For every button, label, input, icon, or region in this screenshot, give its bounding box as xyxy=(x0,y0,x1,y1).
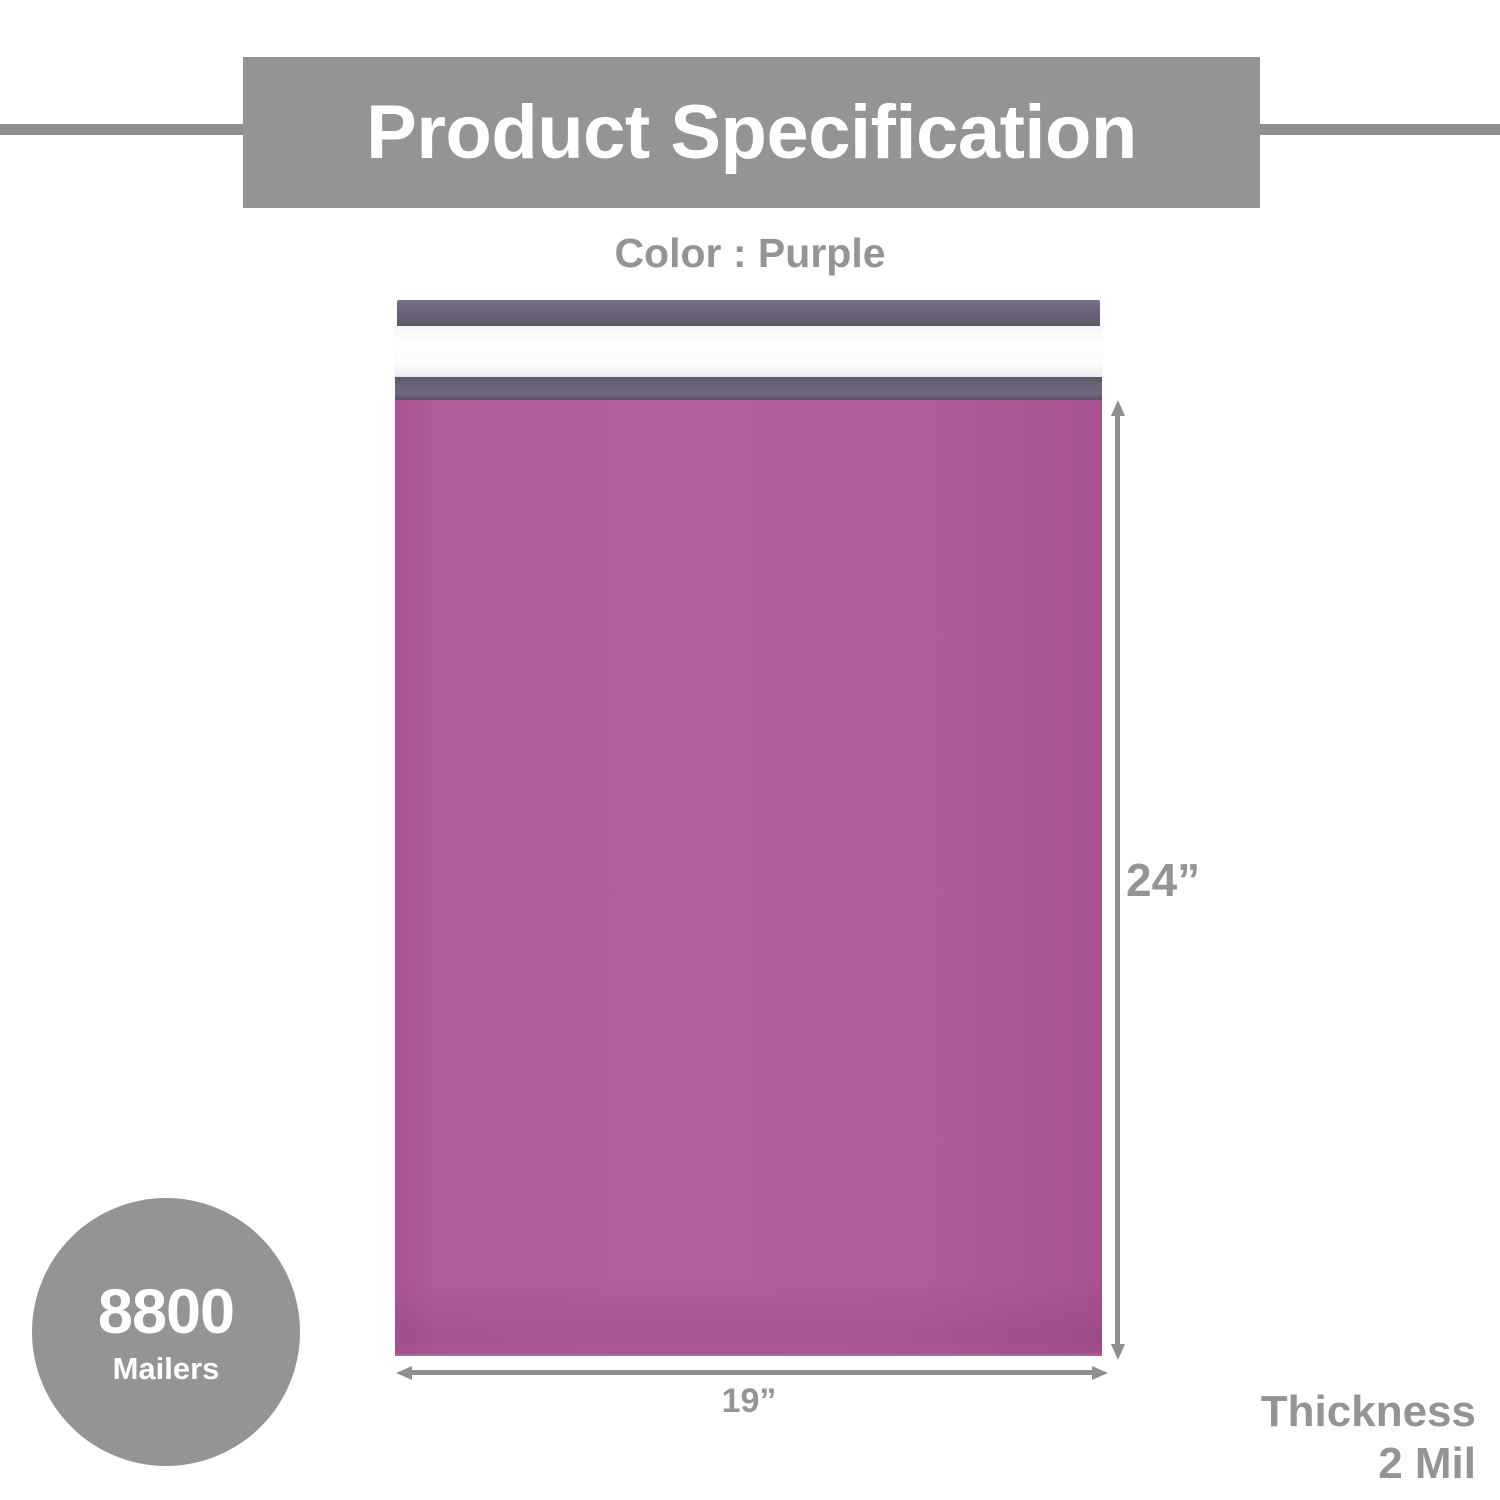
arrow-right-icon xyxy=(1092,1366,1108,1380)
page-title: Product Specification xyxy=(366,95,1137,171)
height-dimension-label: 24” xyxy=(1126,853,1200,907)
bag-adhesive-strip xyxy=(395,326,1102,377)
quantity-count: 8800 xyxy=(98,1281,234,1344)
width-dimension-label: 19” xyxy=(396,1382,1102,1421)
quantity-badge: 8800 Mailers xyxy=(32,1198,300,1466)
quantity-unit-label: Mailers xyxy=(113,1353,220,1384)
height-dimension-line xyxy=(1111,400,1123,1360)
header-banner: Product Specification xyxy=(243,57,1260,208)
header-rule-left xyxy=(0,124,245,135)
thickness-title: Thickness xyxy=(1261,1386,1476,1438)
arrow-down-icon xyxy=(1111,1344,1125,1360)
product-color-label: Color : Purple xyxy=(0,230,1500,277)
header-rule-right xyxy=(1258,124,1500,135)
bag-flap-seam xyxy=(395,377,1102,400)
bag-body-purple xyxy=(395,400,1102,1356)
bag-flap-top-edge xyxy=(397,300,1100,326)
thickness-value: 2 Mil xyxy=(1261,1438,1476,1490)
width-dimension-line xyxy=(396,1366,1108,1378)
dimension-shaft xyxy=(1115,412,1120,1348)
mailer-bag-illustration xyxy=(395,300,1102,1356)
dimension-shaft xyxy=(408,1370,1096,1375)
thickness-block: Thickness 2 Mil xyxy=(1261,1386,1476,1490)
